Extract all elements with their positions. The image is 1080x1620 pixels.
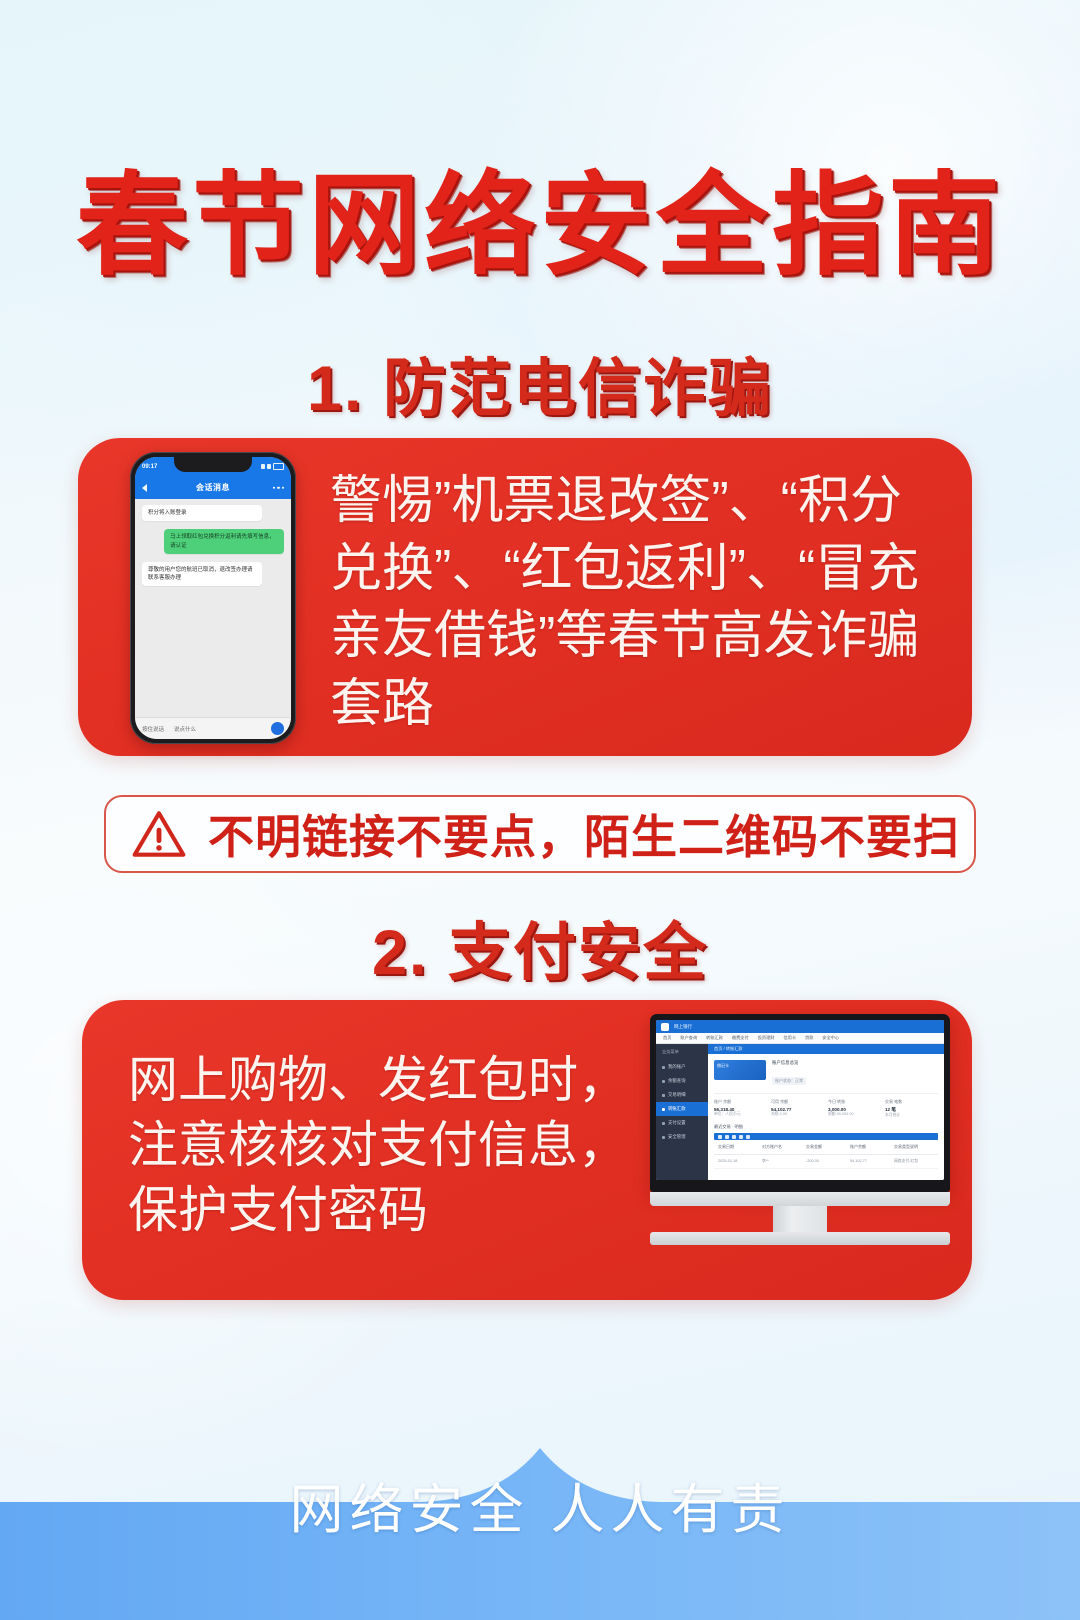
monitor-chin	[650, 1192, 950, 1206]
table-cell: 李**	[762, 1159, 802, 1164]
sidebar-item[interactable]: 交易明细	[656, 1088, 708, 1102]
phone-status-icons	[261, 463, 284, 470]
sidebar-item-active[interactable]: 转账汇款	[656, 1102, 708, 1116]
battery-icon	[273, 463, 284, 470]
bank-card-graphic: 借记卡	[714, 1060, 766, 1080]
sidebar-title: 业务菜单	[656, 1049, 708, 1060]
sidebar-item-label: 余额查询	[668, 1078, 686, 1084]
more-options-icon[interactable]	[273, 486, 285, 489]
phone-screen: 09:17 会话消息 积分将入账登录 马上领取红包兑换积分返利请先填写信息，请认…	[135, 457, 291, 739]
stat-sub: 本月统计	[885, 1113, 938, 1118]
menu-item[interactable]: 首页	[663, 1035, 671, 1041]
column-header: 交易金额	[806, 1144, 846, 1150]
search-icon[interactable]	[746, 1135, 750, 1139]
menu-item[interactable]: 信用卡	[783, 1035, 796, 1041]
account-status: 账户状态：正常	[772, 1077, 806, 1085]
bullet-icon	[662, 1080, 665, 1083]
print-icon[interactable]	[739, 1135, 743, 1139]
stat-label: 今日 转账	[828, 1099, 881, 1105]
sidebar-item-label: 我的账户	[668, 1064, 686, 1070]
bullet-icon	[662, 1066, 665, 1069]
account-panel: 借记卡 账户信息总览 账户状态：正常 账户 余额 56,	[708, 1054, 944, 1175]
table-cell: 2025-01-18	[718, 1159, 758, 1164]
sidebar-item-label: 转账汇款	[668, 1106, 686, 1112]
stat-item: 可用 余额 54,102.77 冻结 0.00	[771, 1099, 824, 1118]
stat-sub: 单位：人民币元	[714, 1112, 767, 1117]
footer-slogan: 网络安全 人人有责	[0, 1465, 1080, 1544]
breadcrumb: 首页 / 转账汇款	[708, 1044, 944, 1054]
back-arrow-icon[interactable]	[142, 484, 147, 492]
app-sidebar: 业务菜单 我的账户 余额查询 交易明细 转账汇款 支付设置 安全管理	[656, 1044, 708, 1180]
monitor-stand-base	[650, 1232, 950, 1245]
phone-nav-title: 会话消息	[196, 482, 230, 493]
table-title: 最近交易 · 明细	[714, 1124, 938, 1130]
sidebar-item-label: 安全管理	[668, 1134, 686, 1140]
table-row[interactable]: 2025-01-18 李** -200.00 54,102.77 网络支付-红包	[714, 1155, 938, 1169]
signal-icon	[261, 464, 265, 469]
phone-status-time: 09:17	[142, 464, 157, 470]
chat-bubble: 积分将入账登录	[142, 505, 262, 521]
table-cell: 网络支付-红包	[894, 1159, 934, 1164]
column-header: 交易日期	[718, 1144, 758, 1150]
menu-item[interactable]: 贷款	[805, 1035, 813, 1041]
section-1-body: 警惕”机票退改签”、“积分兑换”、“红包返利”、“冒充亲友借钱”等春节高发诈骗套…	[330, 468, 950, 738]
phone-nav-bar: 会话消息	[135, 476, 291, 499]
bullet-icon	[662, 1136, 665, 1139]
column-header: 对方账户名	[762, 1144, 802, 1150]
phone-input-bar[interactable]: 按住说话 说点什么	[135, 717, 291, 739]
app-main-content: 首页 / 转账汇款 借记卡 账户信息总览 账户状态：正常	[708, 1044, 944, 1180]
section-2-body: 网上购物、发红包时，注意核核对支付信息，保护支付密码	[128, 1048, 648, 1243]
section-1-card: 09:17 会话消息 积分将入账登录 马上领取红包兑换积分返利请先填写信息，请认…	[78, 438, 972, 756]
export-icon[interactable]	[725, 1135, 729, 1139]
phone-mockup: 09:17 会话消息 积分将入账登录 马上领取红包兑换积分返利请先填写信息，请认…	[130, 452, 296, 744]
refresh-icon[interactable]	[718, 1135, 722, 1139]
table-cell: -200.00	[806, 1159, 846, 1164]
section-2-heading: 2. 支付安全	[0, 902, 1080, 993]
menu-item[interactable]: 账户查询	[680, 1035, 697, 1041]
account-title: 账户信息总览	[772, 1060, 938, 1066]
bullet-icon	[662, 1122, 665, 1125]
warning-banner: 不明链接不要点，陌生二维码不要扫	[104, 795, 976, 873]
menu-item[interactable]: 安全中心	[822, 1035, 839, 1041]
input-hint: 说点什么	[174, 725, 196, 733]
bullet-icon	[662, 1108, 665, 1111]
sidebar-item[interactable]: 我的账户	[656, 1060, 708, 1074]
monitor-bezel: 网上银行 首页 账户查询 转账汇款 缴费支付 投资理财 信用卡 贷款 安全中心	[650, 1014, 950, 1192]
wifi-icon	[267, 464, 271, 469]
monitor-screen: 网上银行 首页 账户查询 转账汇款 缴费支付 投资理财 信用卡 贷款 安全中心	[656, 1020, 944, 1180]
sidebar-item-label: 支付设置	[668, 1120, 686, 1126]
voice-label: 按住说话	[142, 725, 164, 733]
warning-text: 不明链接不要点，陌生二维码不要扫	[208, 801, 960, 867]
stat-item: 账户 余额 56,318.40 单位：人民币元	[714, 1099, 767, 1118]
table-cell: 54,102.77	[850, 1159, 890, 1164]
stat-label: 交易 笔数	[885, 1099, 938, 1105]
account-stats: 账户 余额 56,318.40 单位：人民币元 可用 余额 54,102.77 …	[714, 1093, 938, 1118]
chat-bubble: 马上领取红包兑换积分返利请先填写信息，请认证	[164, 529, 284, 554]
stat-sub: 限额 50,000.00	[828, 1112, 881, 1117]
account-meta: 账户信息总览 账户状态：正常	[772, 1060, 938, 1087]
menu-item[interactable]: 缴费支付	[732, 1035, 749, 1041]
filter-icon[interactable]	[732, 1135, 736, 1139]
column-header: 交易类型说明	[894, 1144, 934, 1150]
stat-item: 今日 转账 3,000.00 限额 50,000.00	[828, 1099, 881, 1118]
stat-item: 交易 笔数 12 笔 本月统计	[885, 1099, 938, 1118]
stat-label: 账户 余额	[714, 1099, 767, 1105]
app-window-title: 网上银行	[674, 1024, 692, 1030]
table-header-row: 交易日期 对方账户名 交易金额 账户余额 交易类型说明	[714, 1140, 938, 1155]
account-summary-row: 借记卡 账户信息总览 账户状态：正常	[714, 1060, 938, 1087]
phone-chat-area: 积分将入账登录 马上领取红包兑换积分返利请先填写信息，请认证 尊敬的用户您的航班…	[135, 499, 291, 717]
table-toolbar[interactable]	[714, 1133, 938, 1140]
column-header: 账户余额	[850, 1144, 890, 1150]
sidebar-item[interactable]: 支付设置	[656, 1116, 708, 1130]
section-2-card: 网上购物、发红包时，注意核核对支付信息，保护支付密码 网上银行 首页 账户查询 …	[82, 1000, 972, 1300]
page-title: 春节网络安全指南	[0, 166, 1080, 287]
section-1-heading: 1. 防范电信诈骗	[0, 338, 1080, 429]
poster-root: 春节网络安全指南 1. 防范电信诈骗 09:17 会话消息	[0, 0, 1080, 1620]
warning-triangle-icon	[132, 809, 186, 859]
chat-bubble: 尊敬的用户您的航班已取消，退改签办理请联系客服办理	[142, 562, 262, 587]
sidebar-item[interactable]: 余额查询	[656, 1074, 708, 1088]
bank-logo-icon	[661, 1023, 669, 1031]
sidebar-item-label: 交易明细	[668, 1092, 686, 1098]
monitor-stand-neck	[773, 1206, 827, 1232]
stat-sub: 冻结 0.00	[771, 1112, 824, 1117]
bullet-icon	[662, 1094, 665, 1097]
desktop-monitor-mockup: 网上银行 首页 账户查询 转账汇款 缴费支付 投资理财 信用卡 贷款 安全中心	[650, 1014, 950, 1245]
app-body: 业务菜单 我的账户 余额查询 交易明细 转账汇款 支付设置 安全管理 首页 / …	[656, 1044, 944, 1180]
menu-item[interactable]: 投资理财	[758, 1035, 775, 1041]
app-menu-bar[interactable]: 首页 账户查询 转账汇款 缴费支付 投资理财 信用卡 贷款 安全中心	[656, 1033, 944, 1044]
phone-notch	[174, 457, 252, 472]
send-icon[interactable]	[271, 722, 284, 735]
sidebar-item[interactable]: 安全管理	[656, 1130, 708, 1144]
menu-item[interactable]: 转账汇款	[706, 1035, 723, 1041]
stat-label: 可用 余额	[771, 1099, 824, 1105]
app-title-bar: 网上银行	[656, 1020, 944, 1033]
